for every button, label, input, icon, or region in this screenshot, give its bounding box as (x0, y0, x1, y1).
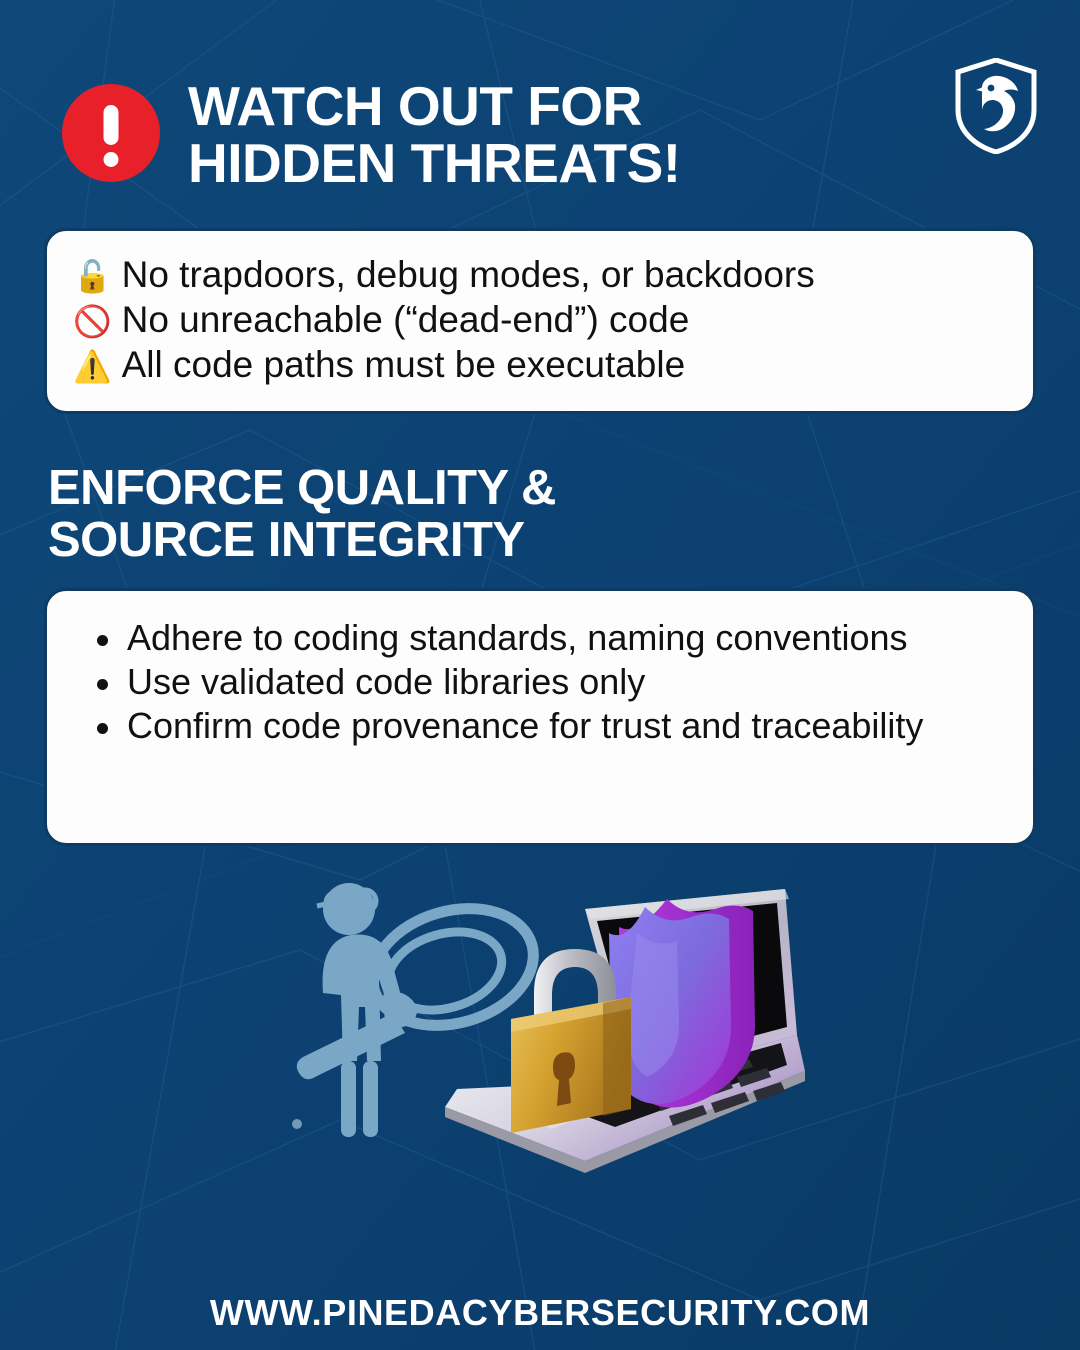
threat-item: ⚠️ All code paths must be executable (73, 343, 1007, 388)
quality-bullet-list: Adhere to coding standards, naming conve… (81, 617, 999, 746)
header: WATCH OUT FOR HIDDEN THREATS! (62, 78, 681, 192)
list-item: Confirm code provenance for trust and tr… (81, 705, 999, 747)
unlock-icon: 🔓 (73, 261, 112, 292)
section-heading: ENFORCE QUALITY & SOURCE INTEGRITY (48, 462, 556, 567)
threat-item: 🚫 No unreachable (“dead-end”) code (73, 298, 1007, 343)
threat-item-label: No unreachable (“dead-end”) code (122, 298, 690, 343)
exclamation-stem (104, 105, 119, 145)
quality-card: Adhere to coding standards, naming conve… (44, 588, 1036, 846)
threat-item-label: All code paths must be executable (122, 343, 686, 388)
prohibited-icon: 🚫 (73, 306, 112, 337)
exclamation-dot (104, 152, 119, 167)
exclamation-circle-icon (62, 84, 160, 182)
threats-card: 🔓 No trapdoors, debug modes, or backdoor… (44, 228, 1036, 414)
warning-triangle-icon: ⚠️ (73, 351, 112, 382)
list-item: Use validated code libraries only (81, 661, 999, 703)
threat-item: 🔓 No trapdoors, debug modes, or backdoor… (73, 253, 1007, 298)
list-item: Adhere to coding standards, naming conve… (81, 617, 999, 659)
shield-eagle-logo (954, 58, 1038, 154)
threat-item-label: No trapdoors, debug modes, or backdoors (122, 253, 815, 298)
security-inspection-illustration (285, 875, 805, 1250)
footer-website-url[interactable]: WWW.PINEDACYBERSECURITY.COM (0, 1292, 1080, 1334)
page-title: WATCH OUT FOR HIDDEN THREATS! (188, 78, 681, 192)
